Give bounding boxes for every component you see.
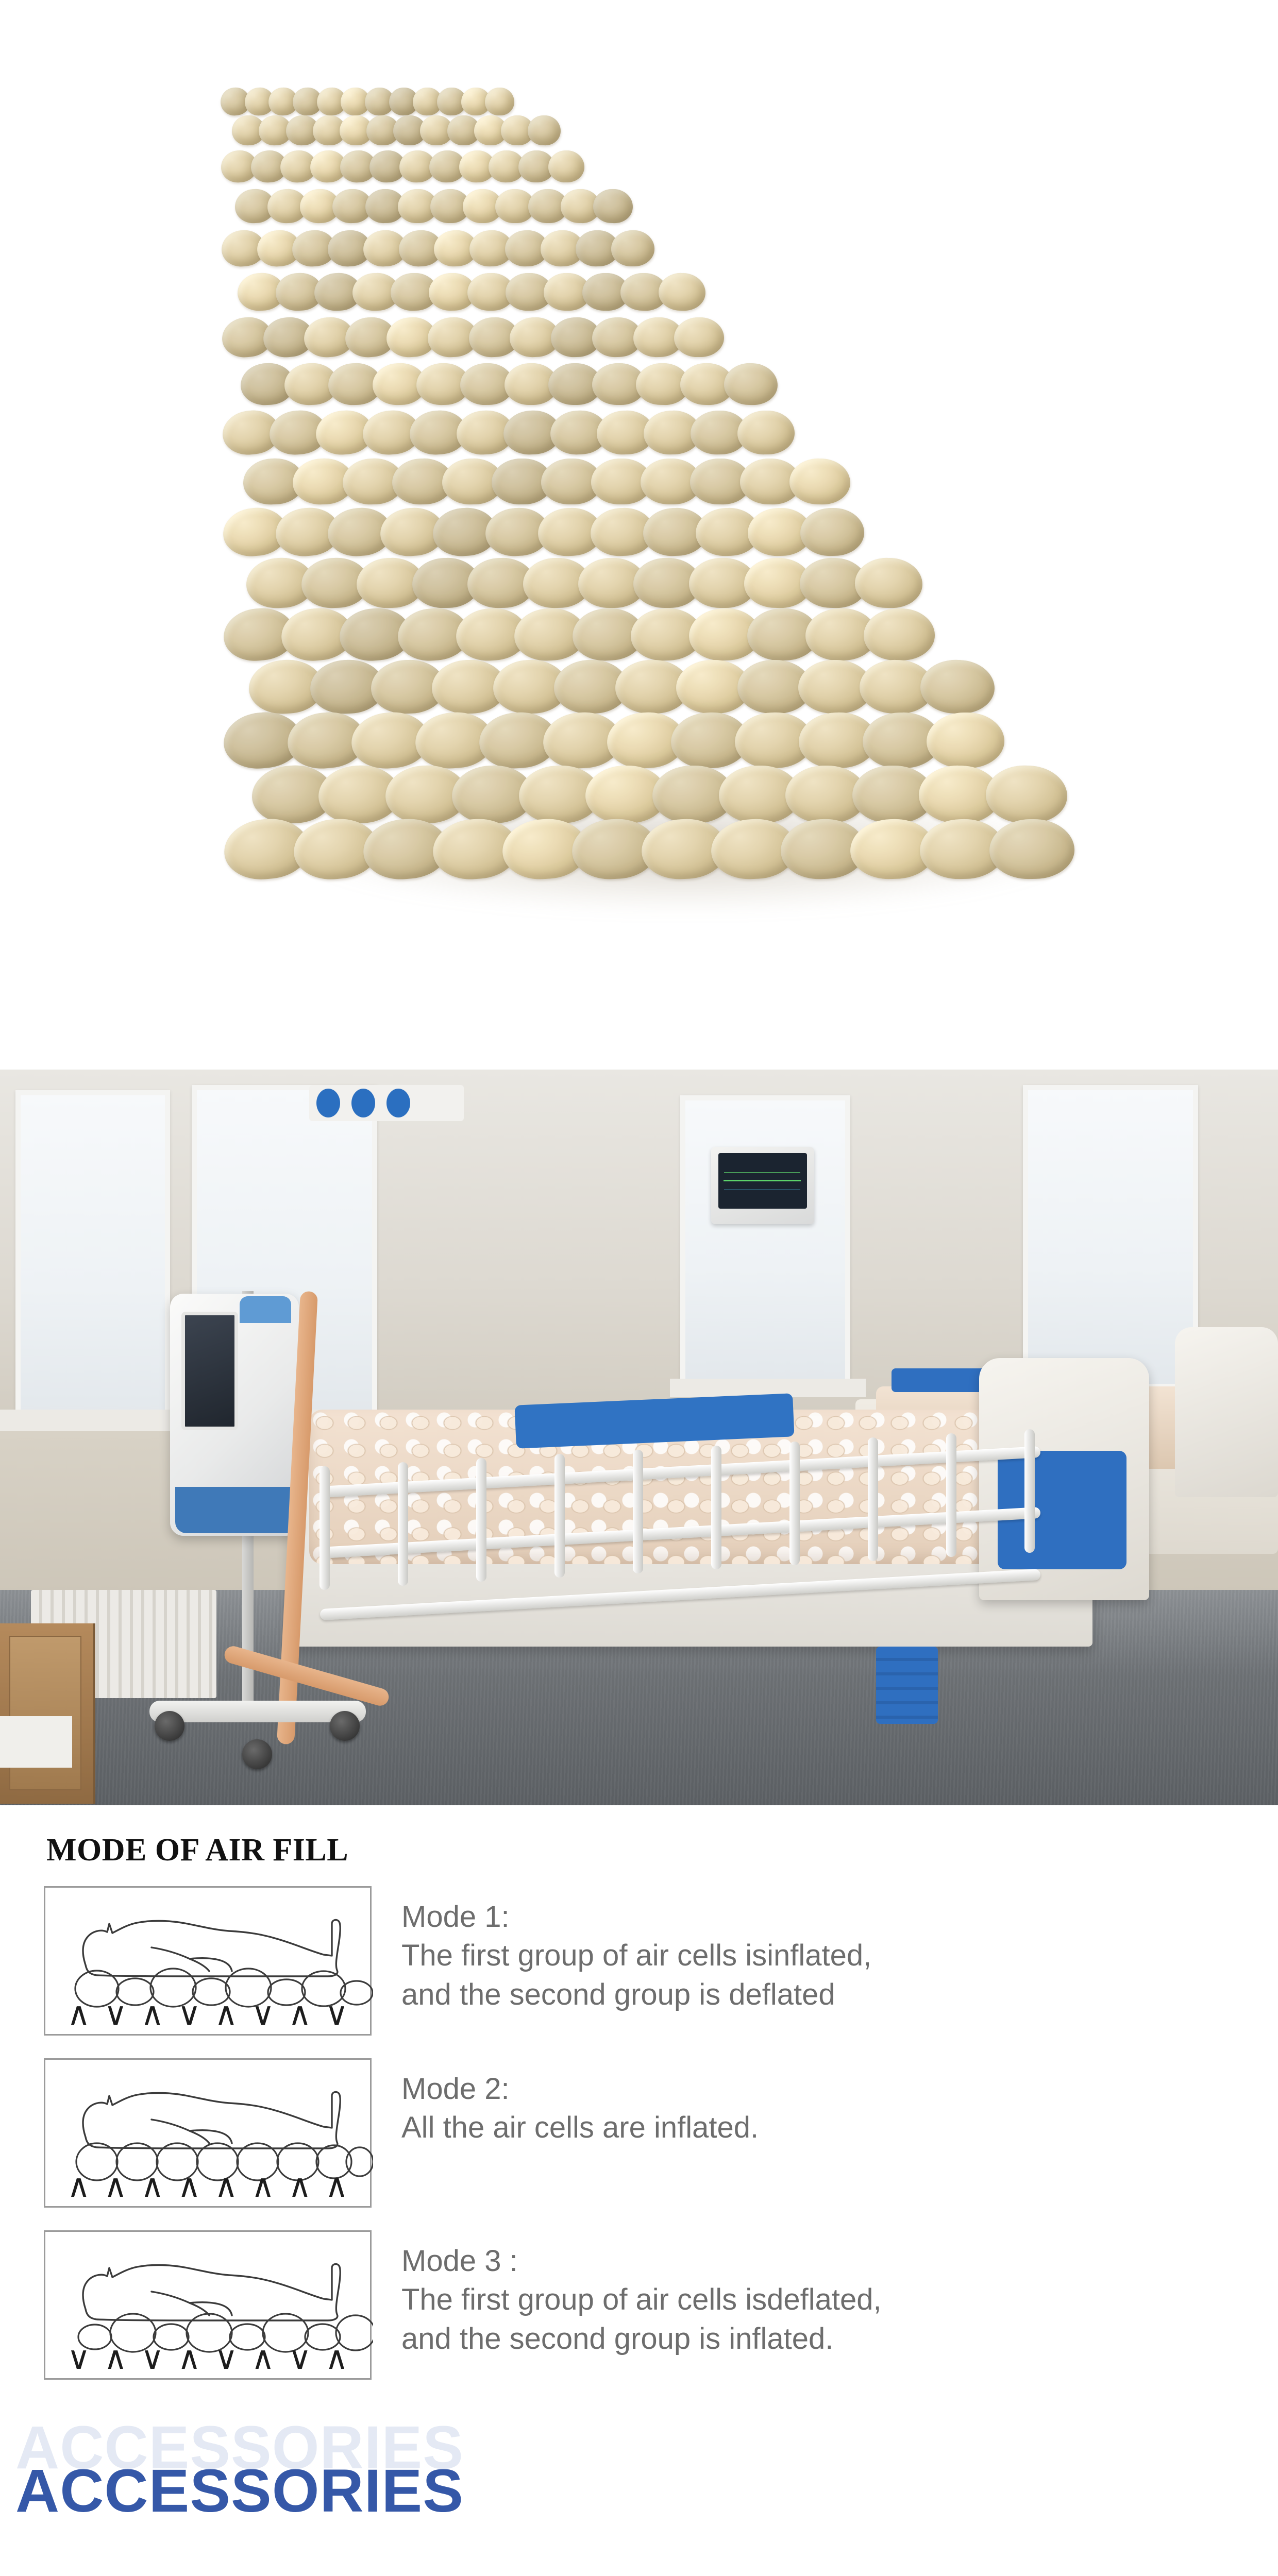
mode-2-arrow-row: ∧ ∧ ∧ ∧ ∧ ∧ ∧ ∧	[67, 2173, 348, 2199]
bed-side-rail	[320, 1466, 1041, 1600]
mattress-air-cells	[129, 52, 1134, 1030]
mattress-air-cell	[863, 608, 935, 660]
mode-3-diagram: ∨ ∧ ∨ ∧ ∨ ∧ ∨ ∧	[44, 2230, 372, 2380]
arrow: ∨	[141, 2345, 164, 2371]
arrow: ∧	[325, 2345, 348, 2371]
mode-label: Mode 2:	[401, 2070, 759, 2108]
mattress-air-cell	[926, 712, 1005, 769]
arrow: ∧	[104, 2345, 127, 2371]
mattress-air-cell	[737, 410, 795, 455]
monitor-screen	[718, 1153, 807, 1209]
mode-line: All the air cells are inflated.	[401, 2108, 759, 2147]
mode-label: Mode 3 :	[401, 2242, 882, 2280]
cart-caster	[155, 1711, 184, 1741]
rail-post	[398, 1462, 408, 1586]
arrow: ∧	[67, 2173, 90, 2199]
rail-bar	[320, 1507, 1040, 1558]
product-detail-page: MODE OF AIR FILL	[0, 0, 1278, 2576]
mode-1-diagram: ∧ ∨ ∧ ∨ ∧ ∨ ∧ ∨	[44, 1886, 372, 2036]
mattress-air-cell	[854, 557, 923, 608]
cart-caster	[242, 1739, 272, 1769]
arrow: ∧	[288, 2001, 311, 2027]
mattress-air-cell	[789, 457, 851, 505]
hero-product-image	[0, 0, 1278, 1070]
mattress-air-cell	[611, 230, 655, 266]
mode-2-diagram: ∧ ∧ ∧ ∧ ∧ ∧ ∧ ∧	[44, 2058, 372, 2208]
mattress-illustration	[129, 52, 1134, 1030]
rail-post	[789, 1442, 800, 1565]
arrow: ∧	[288, 2173, 311, 2199]
mattress-air-cell	[989, 819, 1075, 879]
accessories-section: ACCESSORIES ACCESSORIES min max	[0, 2402, 1278, 2576]
arrow: ∧	[251, 2345, 275, 2371]
accessory-air-hose-and-repair-kit	[660, 2552, 1237, 2576]
rail-post	[320, 1466, 330, 1590]
arrow: ∧	[178, 2345, 201, 2371]
outlet-socket	[351, 1089, 375, 1117]
accessories-heading: ACCESSORIES	[15, 2456, 464, 2526]
mattress-air-cell	[593, 189, 633, 224]
arrow: ∧	[104, 2173, 127, 2199]
mode-2-description: Mode 2: All the air cells are inflated.	[401, 2058, 759, 2147]
mattress-air-cell	[919, 659, 996, 715]
rail-post	[868, 1437, 878, 1561]
ventilator-blue-top	[240, 1296, 291, 1323]
mode-row: ∨ ∧ ∨ ∧ ∨ ∧ ∨ ∧ Mode 3 : The first group…	[44, 2230, 1278, 2380]
outlet-socket	[316, 1089, 340, 1117]
arrow: ∨	[288, 2345, 311, 2371]
arrow: ∨	[104, 2001, 127, 2027]
arrow: ∨	[67, 2345, 90, 2371]
mode-1-arrow-row: ∧ ∨ ∧ ∨ ∧ ∨ ∧ ∨	[67, 2001, 348, 2027]
mode-1-description: Mode 1: The first group of air cells isi…	[401, 1886, 871, 2014]
mode-row: ∧ ∧ ∧ ∧ ∧ ∧ ∧ ∧ Mode 2: All the air cell…	[44, 2058, 1278, 2208]
ventilator-blue-base	[175, 1487, 299, 1533]
arrow: ∨	[178, 2001, 201, 2027]
window-left	[15, 1090, 170, 1420]
wooden-cabinet	[0, 1623, 95, 1804]
section-title-mode-of-air-fill: MODE OF AIR FILL	[46, 1832, 1278, 1869]
mode-line: The first group of air cells isdeflated,	[401, 2280, 882, 2319]
mattress-air-cell	[674, 317, 725, 358]
mattress-air-cell	[548, 150, 584, 183]
hospital-room-photo	[0, 1070, 1278, 1805]
arrow: ∧	[141, 2173, 164, 2199]
mode-3-arrow-row: ∨ ∧ ∨ ∧ ∨ ∧ ∨ ∧	[67, 2345, 348, 2371]
rail-post	[711, 1446, 721, 1569]
bed-foot-blue-block	[876, 1647, 938, 1724]
arrow: ∨	[214, 2345, 238, 2371]
vital-signs-monitor	[711, 1147, 814, 1224]
window-right	[1023, 1085, 1198, 1389]
mattress-air-cell	[485, 88, 515, 116]
arrow: ∧	[214, 2001, 238, 2027]
arrow: ∧	[325, 2173, 348, 2199]
mode-3-description: Mode 3 : The first group of air cells is…	[401, 2230, 882, 2358]
mode-row: ∧ ∨ ∧ ∨ ∧ ∨ ∧ ∨ Mode 1: The first group …	[44, 1886, 1278, 2036]
arrow: ∧	[141, 2001, 164, 2027]
mattress-air-cell	[800, 507, 865, 556]
side-table	[0, 1716, 72, 1768]
wall-outlet-panel	[309, 1085, 464, 1121]
mode-line: and the second group is inflated.	[401, 2319, 882, 2358]
accessories-heading-block: ACCESSORIES ACCESSORIES	[5, 2413, 1278, 2521]
window-mid	[680, 1095, 850, 1384]
cart-caster	[330, 1711, 360, 1741]
mode-label: Mode 1:	[401, 1897, 871, 1936]
arrow: ∧	[67, 2001, 90, 2027]
outlet-socket	[386, 1089, 410, 1117]
mattress-air-cell	[527, 115, 561, 146]
rail-post	[1024, 1429, 1035, 1553]
accessories-items: min max 调节旋钮	[0, 2521, 1278, 2576]
arrow: ∧	[214, 2173, 238, 2199]
mode-line: The first group of air cells isinflated,	[401, 1936, 871, 1975]
arrow: ∧	[178, 2173, 201, 2199]
arrow: ∨	[251, 2001, 275, 2027]
mattress-air-cell	[985, 765, 1068, 825]
rail-post	[554, 1454, 565, 1578]
mode-of-air-fill-section: MODE OF AIR FILL	[0, 1805, 1278, 2380]
rail-post	[946, 1433, 956, 1557]
second-bed-headboard	[1175, 1327, 1278, 1497]
mattress-air-cell	[724, 363, 778, 406]
arrow: ∧	[251, 2173, 275, 2199]
ventilator-screen	[181, 1312, 238, 1430]
arrow: ∨	[325, 2001, 348, 2027]
rail-post	[476, 1458, 486, 1582]
mattress-air-cell	[658, 273, 706, 312]
mode-line: and the second group is deflated	[401, 1975, 871, 2014]
rail-post	[633, 1450, 643, 1573]
